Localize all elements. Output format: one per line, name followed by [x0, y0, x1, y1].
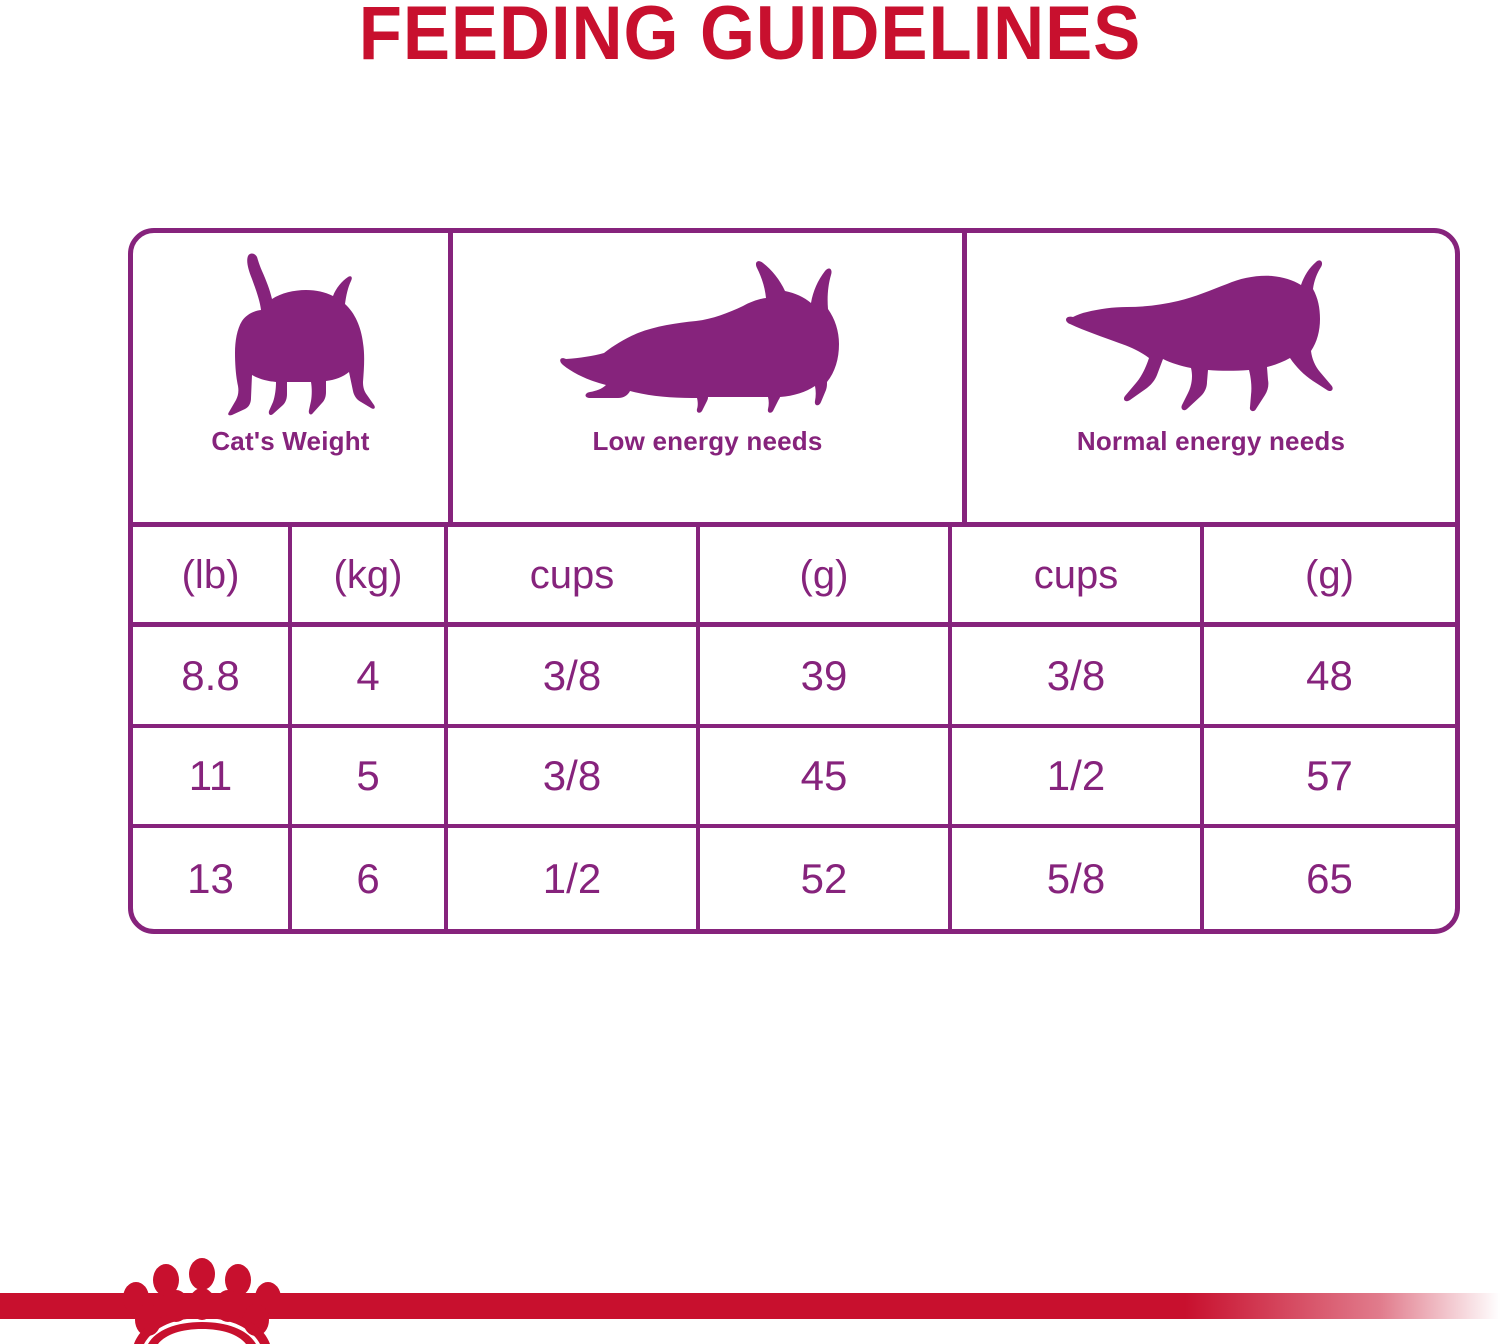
cell-normal-grams: 57 — [1200, 728, 1455, 825]
cell-low-cups: 3/8 — [444, 627, 696, 724]
header-group-cat-weight: Cat's Weight — [133, 233, 448, 522]
standing-cat-icon — [205, 251, 377, 416]
unit-cell-kg: (kg) — [288, 527, 444, 623]
unit-cell-normal-grams: (g) — [1200, 527, 1455, 623]
table-row: 13 6 1/2 52 5/8 65 — [133, 828, 1455, 929]
cell-weight-lb: 13 — [133, 828, 288, 929]
table-row: 11 5 3/8 45 1/2 57 — [133, 728, 1455, 829]
walking-cat-icon — [1061, 251, 1361, 416]
cell-weight-lb: 11 — [133, 728, 288, 825]
cell-weight-kg: 5 — [288, 728, 444, 825]
cell-normal-cups: 5/8 — [948, 828, 1200, 929]
unit-cell-low-cups: cups — [444, 527, 696, 623]
unit-cell-lb: (lb) — [133, 527, 288, 623]
header-group-low-energy: Low energy needs — [448, 233, 962, 522]
cell-low-grams: 52 — [696, 828, 948, 929]
cell-weight-lb: 8.8 — [133, 627, 288, 724]
header-group-label: Normal energy needs — [1077, 426, 1345, 457]
cell-low-cups: 1/2 — [444, 828, 696, 929]
cell-low-grams: 45 — [696, 728, 948, 825]
cell-normal-cups: 3/8 — [948, 627, 1200, 724]
feeding-guidelines-table: Cat's Weight Low energy needs Normal ene… — [128, 228, 1460, 934]
cell-weight-kg: 4 — [288, 627, 444, 724]
header-group-label: Cat's Weight — [211, 426, 369, 457]
cell-low-cups: 3/8 — [444, 728, 696, 825]
unit-cell-normal-cups: cups — [948, 527, 1200, 623]
page-title: FEEDING GUIDELINES — [53, 0, 1448, 74]
table-row: 8.8 4 3/8 39 3/8 48 — [133, 627, 1455, 728]
table-units-row: (lb) (kg) cups (g) cups (g) — [133, 527, 1455, 628]
cell-normal-cups: 1/2 — [948, 728, 1200, 825]
header-group-label: Low energy needs — [592, 426, 822, 457]
cell-normal-grams: 65 — [1200, 828, 1455, 929]
unit-cell-low-grams: (g) — [696, 527, 948, 623]
cell-normal-grams: 48 — [1200, 627, 1455, 724]
header-group-normal-energy: Normal energy needs — [962, 233, 1455, 522]
royal-canin-crown-logo — [104, 1258, 300, 1344]
cell-low-grams: 39 — [696, 627, 948, 724]
lying-cat-icon — [558, 251, 858, 416]
table-header-row: Cat's Weight Low energy needs Normal ene… — [133, 233, 1455, 527]
cell-weight-kg: 6 — [288, 828, 444, 929]
